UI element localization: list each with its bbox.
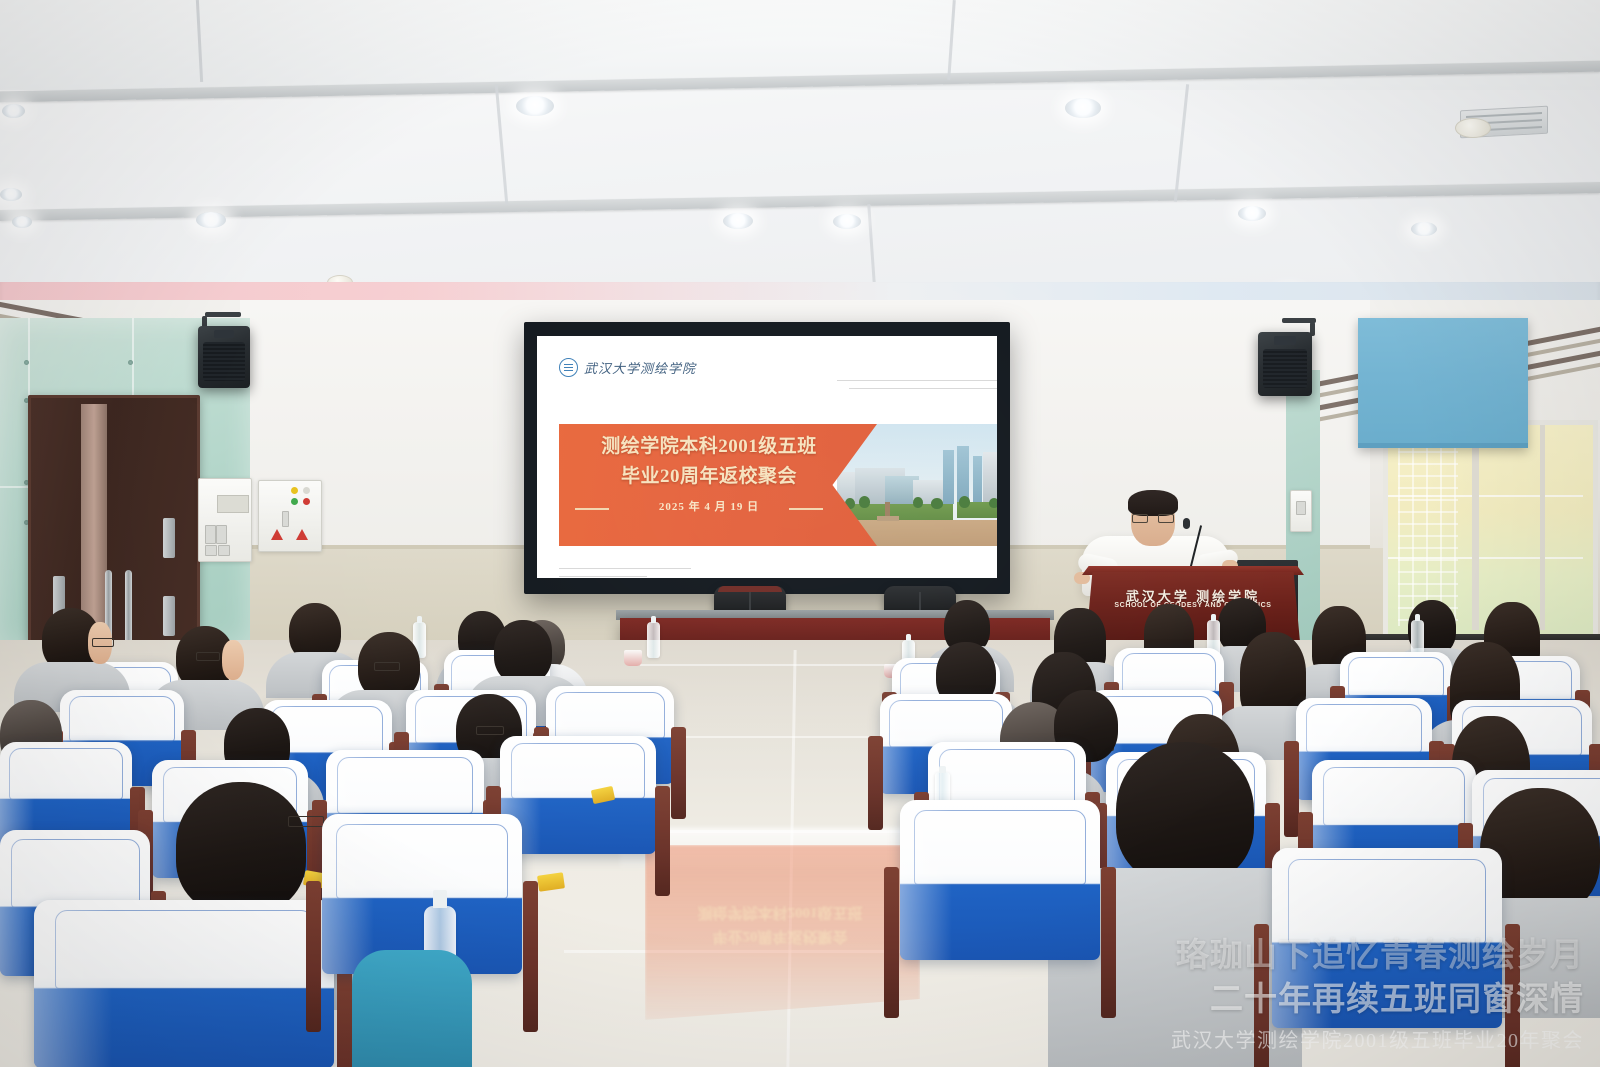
slide-title: 测绘学院本科2001级五班 毕业20周年返校聚会	[559, 432, 859, 492]
auditorium-seat[interactable]	[900, 800, 1100, 960]
window-blind[interactable]	[1358, 318, 1528, 448]
slide-date: 2025 年 4 月 19 日	[559, 498, 859, 514]
speaker-hair	[1128, 490, 1178, 516]
wall-speaker	[198, 326, 250, 388]
projection-screen: 武汉大学测绘学院	[524, 322, 1010, 594]
audience-glasses	[196, 652, 220, 661]
downlight	[0, 188, 22, 201]
audience-face	[222, 640, 244, 680]
auditorium-seat[interactable]	[1272, 848, 1502, 1028]
speaker-glasses	[1158, 514, 1174, 523]
auditorium-seat[interactable]	[34, 900, 334, 1067]
logo-mark-icon	[559, 358, 578, 377]
electrical-box	[198, 478, 252, 562]
audience-glasses	[374, 662, 400, 671]
window-security-bars	[1398, 439, 1458, 626]
audience-glasses	[92, 638, 114, 647]
downlight	[1065, 98, 1101, 118]
downlight	[2, 104, 25, 118]
presentation-slide: 武汉大学测绘学院	[537, 336, 997, 578]
photo-canvas: 武汉大学测绘学院	[0, 0, 1600, 1067]
snack-cup	[624, 650, 642, 666]
audience-shoulders	[352, 950, 472, 1067]
downlight	[1238, 206, 1266, 221]
door-lock-plate	[163, 518, 175, 558]
downlight	[12, 216, 32, 228]
floor-reflection-text: 毕业20周年返校聚会 测绘学院本科2001级五班	[655, 900, 905, 948]
downlight	[723, 213, 753, 229]
audience-glasses	[476, 726, 504, 735]
audience-head	[494, 620, 552, 684]
downlight	[196, 212, 226, 228]
slide-title-line-2: 毕业20周年返校聚会	[559, 462, 859, 492]
podium-english-label: SCHOOL OF GEODESY AND GEOMATICS	[1086, 602, 1300, 609]
ceiling	[0, 0, 1600, 300]
wall-speaker	[1258, 332, 1312, 396]
auditorium-seat[interactable]	[500, 736, 656, 854]
microphone-head-icon	[1183, 518, 1190, 529]
audience-head	[1116, 742, 1254, 884]
speaker-glasses	[1132, 514, 1148, 523]
downlight	[516, 96, 554, 116]
door-lock-plate	[163, 596, 175, 636]
wall-panel-right	[1290, 490, 1312, 532]
audience-glasses	[288, 816, 324, 827]
smoke-detector-icon	[1455, 118, 1491, 138]
school-logo: 武汉大学测绘学院	[559, 358, 696, 377]
downlight	[1411, 222, 1437, 236]
audience-head	[176, 782, 306, 914]
logo-text: 武汉大学测绘学院	[584, 358, 696, 377]
electrical-panel	[258, 480, 322, 552]
downlight	[833, 214, 861, 229]
slide-title-line-1: 测绘学院本科2001级五班	[559, 432, 859, 462]
